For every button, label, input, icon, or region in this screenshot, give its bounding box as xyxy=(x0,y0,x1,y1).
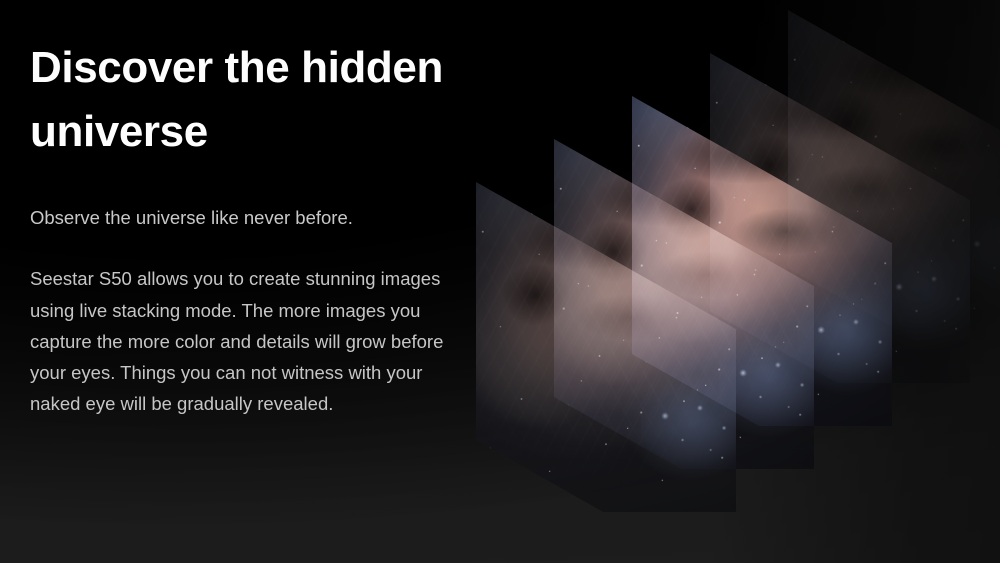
nebula-gas-layer xyxy=(710,53,970,383)
nebula-image-3 xyxy=(632,96,892,426)
nebula-frame-4 xyxy=(710,53,970,458)
nebula-wisp-layer xyxy=(632,96,892,471)
star-field xyxy=(554,139,814,469)
nebula-dust-layer xyxy=(554,139,814,469)
nebula-frame-3 xyxy=(632,96,892,501)
nebula-gas-layer xyxy=(632,96,892,426)
nebula-frame-5 xyxy=(788,10,1000,415)
body-paragraph: Seestar S50 allows you to create stunnin… xyxy=(30,263,460,419)
text-column: Discover the hidden universe Observe the… xyxy=(30,36,460,420)
trapezium-cluster xyxy=(641,376,736,475)
star-field xyxy=(632,96,892,426)
nebula-dust-layer xyxy=(632,96,892,426)
nebula-image-4 xyxy=(710,53,970,383)
nebula-dust-layer xyxy=(788,10,1000,340)
page-title: Discover the hidden universe xyxy=(30,36,460,164)
slide-root: Discover the hidden universe Observe the… xyxy=(0,0,1000,563)
trapezium-cluster xyxy=(719,333,814,432)
nebula-wisp-layer xyxy=(476,182,736,557)
star-field xyxy=(788,10,1000,340)
nebula-image-5 xyxy=(788,10,1000,340)
trapezium-cluster xyxy=(953,204,1000,303)
nebula-image-2 xyxy=(554,139,814,469)
nebula-gas-layer xyxy=(476,182,736,512)
nebula-wisp-layer xyxy=(554,139,814,514)
trapezium-cluster xyxy=(875,247,970,346)
nebula-gas-layer xyxy=(788,10,1000,340)
nebula-wisp-layer xyxy=(788,10,1000,385)
nebula-gas-layer xyxy=(554,139,814,469)
nebula-frame-2 xyxy=(554,139,814,544)
lede-paragraph: Observe the universe like never before. xyxy=(30,204,460,232)
trapezium-cluster xyxy=(797,290,892,389)
nebula-image-1 xyxy=(476,182,736,512)
nebula-dust-layer xyxy=(710,53,970,383)
nebula-dust-layer xyxy=(476,182,736,512)
nebula-wisp-layer xyxy=(710,53,970,428)
nebula-frame-1 xyxy=(476,182,736,563)
star-field xyxy=(710,53,970,383)
star-field xyxy=(476,182,736,512)
